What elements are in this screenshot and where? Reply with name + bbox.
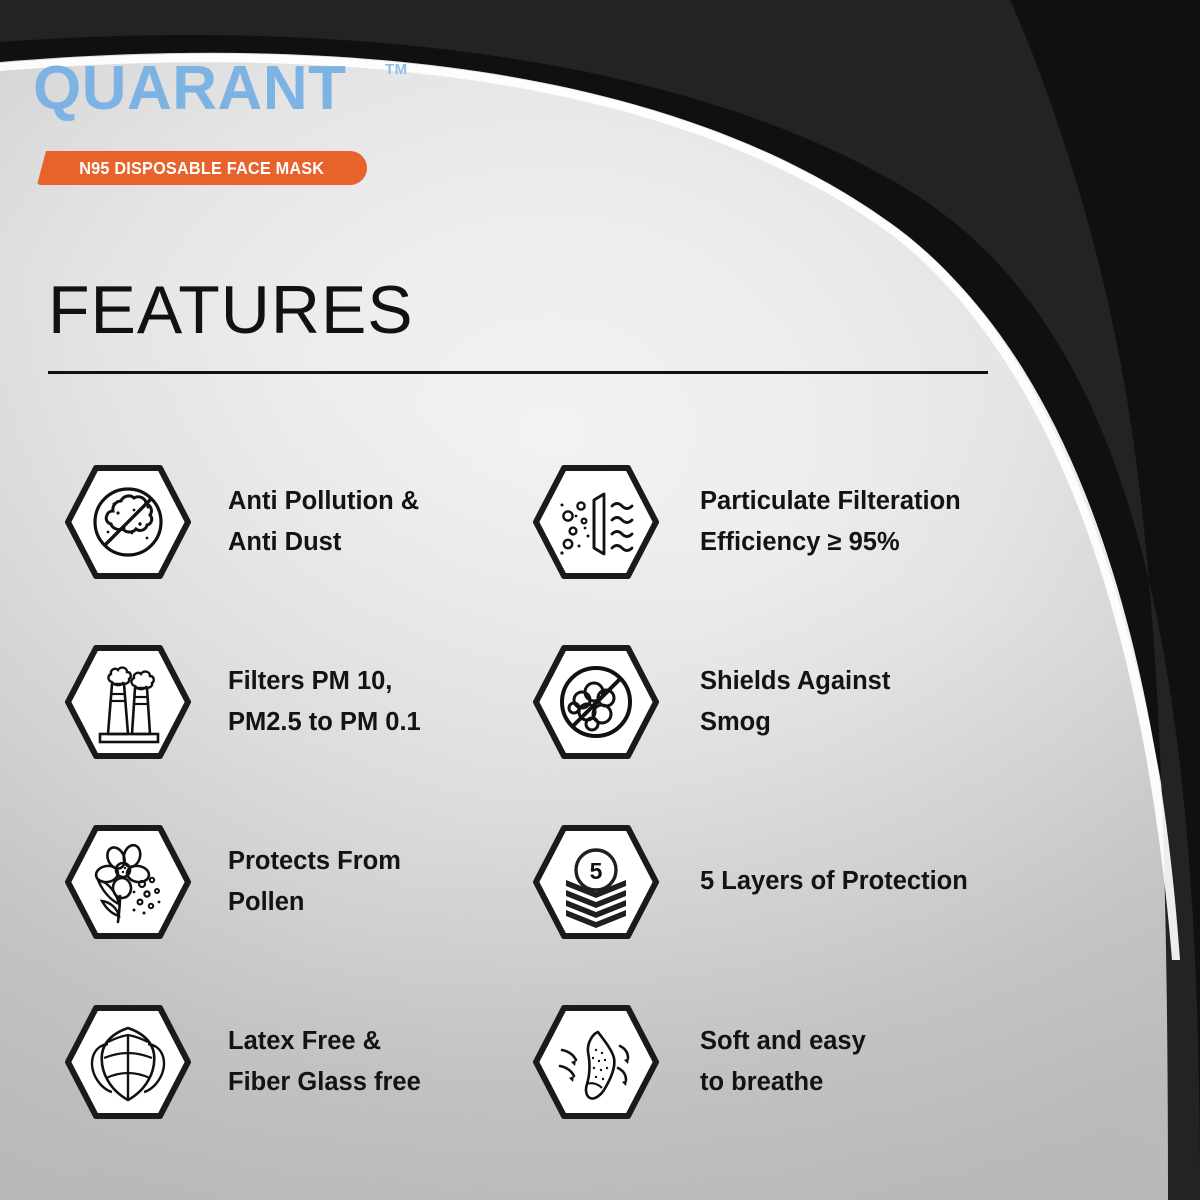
feature-item-protects-pollen: Protects From Pollen — [0, 792, 520, 972]
brand-logo-block: QUARANT TM N95 DISPOSABLE FACE MASK — [33, 58, 453, 120]
infographic-page: QUARANT TM N95 DISPOSABLE FACE MASK FEAT… — [0, 0, 1200, 1200]
title-divider-rule — [48, 371, 988, 374]
feature-label: Latex Free & Fiber Glass free — [228, 1021, 421, 1104]
feature-row: Latex Free & Fiber Glass free — [0, 972, 1200, 1152]
particle-filter-membrane-icon — [532, 458, 660, 586]
feature-item-soft-breathable: Soft and easy to breathe — [520, 972, 1140, 1152]
brand-name: QUARANT — [33, 58, 346, 120]
feature-label: Particulate Filteration Efficiency ≥ 95% — [700, 481, 961, 564]
trademark-symbol: TM — [385, 62, 408, 77]
five-layers-stack-icon: 5 — [532, 818, 660, 946]
feature-label: Shields Against Smog — [700, 661, 890, 744]
breathable-fabric-airflow-icon — [532, 998, 660, 1126]
feature-label: Filters PM 10, PM2.5 to PM 0.1 — [228, 661, 421, 744]
feature-label: 5 Layers of Protection — [700, 861, 968, 902]
feature-label: Soft and easy to breathe — [700, 1021, 866, 1104]
no-smog-cloud-icon — [532, 638, 660, 766]
flower-pollen-icon — [64, 818, 192, 946]
features-grid: Anti Pollution & Anti Dust — [0, 432, 1200, 1152]
brand-name-row: QUARANT TM — [33, 58, 453, 120]
product-tagline-banner: N95 DISPOSABLE FACE MASK — [37, 151, 367, 185]
feature-item-filters-pm: Filters PM 10, PM2.5 to PM 0.1 — [0, 612, 520, 792]
page-title: FEATURES — [48, 276, 414, 344]
feature-row: Protects From Pollen 5 — [0, 792, 1200, 972]
n95-mask-icon — [64, 998, 192, 1126]
no-dust-cloud-icon — [64, 458, 192, 586]
layer-count-text: 5 — [590, 858, 603, 884]
feature-row: Anti Pollution & Anti Dust — [0, 432, 1200, 612]
feature-label: Protects From Pollen — [228, 841, 401, 924]
feature-item-anti-pollution: Anti Pollution & Anti Dust — [0, 432, 520, 612]
feature-item-five-layers: 5 5 Layers of Protection — [520, 792, 1140, 972]
feature-label: Anti Pollution & Anti Dust — [228, 481, 419, 564]
product-tagline-text: N95 DISPOSABLE FACE MASK — [79, 158, 324, 179]
feature-row: Filters PM 10, PM2.5 to PM 0.1 — [0, 612, 1200, 792]
factory-smokestacks-icon — [64, 638, 192, 766]
feature-item-filtration-efficiency: Particulate Filteration Efficiency ≥ 95% — [520, 432, 1140, 612]
feature-item-latex-free: Latex Free & Fiber Glass free — [0, 972, 520, 1152]
feature-item-shields-smog: Shields Against Smog — [520, 612, 1140, 792]
